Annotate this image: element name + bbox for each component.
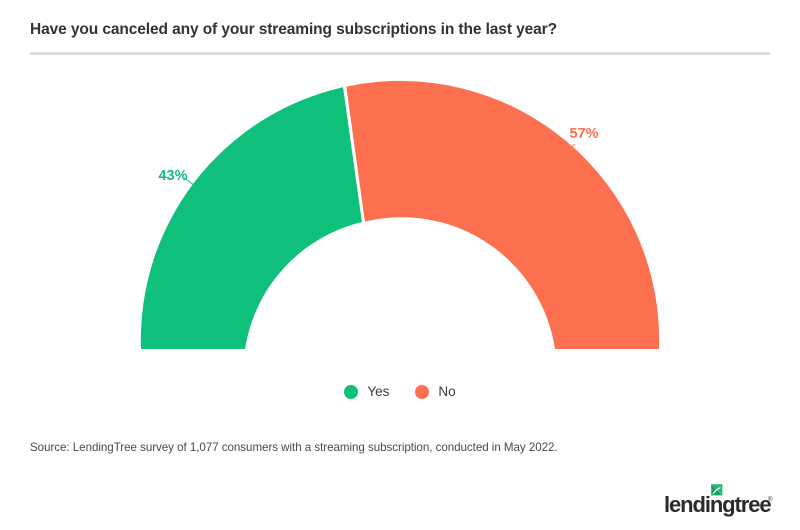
half-donut-chart: 43% 57%	[0, 60, 800, 370]
page-title: Have you canceled any of your streaming …	[30, 19, 770, 41]
logo-svg: lendingtree ®	[664, 483, 776, 517]
legend-label-no: No	[438, 384, 455, 400]
chart-legend: Yes No	[0, 384, 800, 400]
pie-slice-yes[interactable]	[141, 87, 362, 349]
legend-dot-yes-icon	[344, 385, 358, 399]
slice-label-no: 57%	[569, 126, 598, 142]
source-note: Source: LendingTree survey of 1,077 cons…	[30, 441, 558, 454]
chart-page: Have you canceled any of your streaming …	[0, 0, 800, 530]
legend-item-no[interactable]: No	[415, 384, 455, 400]
lendingtree-logo[interactable]: lendingtree ®	[664, 483, 776, 517]
legend-label-yes: Yes	[367, 384, 389, 400]
title-divider	[30, 52, 770, 55]
legend-dot-no-icon	[415, 385, 429, 399]
logo-trademark: ®	[768, 496, 773, 503]
legend-item-yes[interactable]: Yes	[344, 384, 389, 400]
pie-slice-no[interactable]	[346, 81, 659, 349]
logo-wordmark: lendingtree	[664, 492, 771, 517]
slice-label-yes: 43%	[158, 168, 187, 184]
gauge-svg: 43% 57%	[0, 60, 800, 370]
